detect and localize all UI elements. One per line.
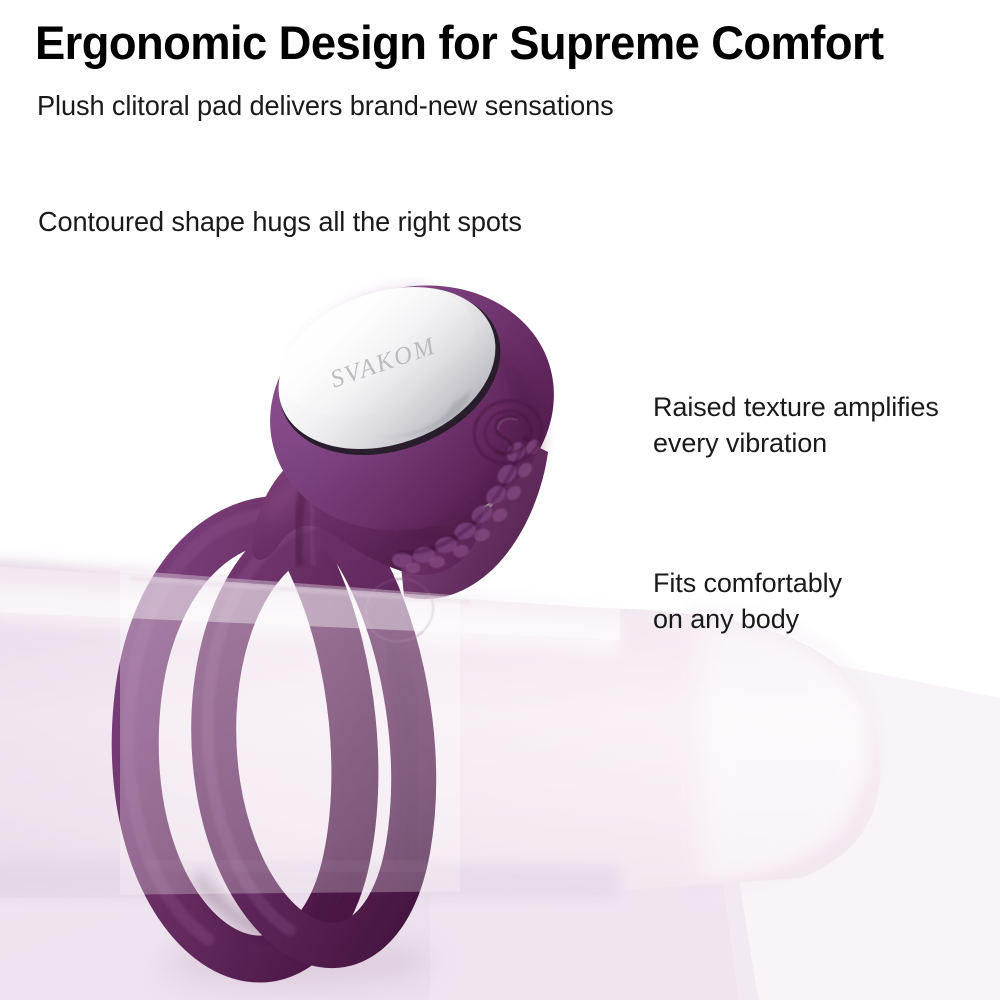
inner-ring xyxy=(208,524,414,946)
background-ground-plane xyxy=(0,560,1000,1000)
callout-fit-line-1: Fits comfortably xyxy=(653,566,842,602)
feature-callout-fits-comfortably: Fits comfortably on any body xyxy=(653,566,842,638)
product-neck xyxy=(252,438,483,575)
subtitle: Plush clitoral pad delivers brand-new se… xyxy=(37,90,614,122)
product-head xyxy=(238,249,586,566)
feature-callout-raised-texture: Raised texture amplifies every vibration xyxy=(653,390,939,462)
product-illustration: SVAKOM xyxy=(0,0,1000,1000)
callout-texture-line-1: Raised texture amplifies xyxy=(653,390,939,426)
page-title: Ergonomic Design for Supreme Comfort xyxy=(35,18,904,68)
power-button-icon xyxy=(357,392,549,650)
callout-fit-line-2: on any body xyxy=(653,602,842,638)
product-body: SVAKOM xyxy=(0,249,620,988)
outer-ring xyxy=(128,515,355,959)
raised-texture-nubs xyxy=(392,436,548,599)
product-infographic: SVAKOM Ergonomic Design for Supreme Comf… xyxy=(0,0,1000,1000)
callout-texture-line-2: every vibration xyxy=(653,426,939,462)
prop-crossfade-overlay xyxy=(0,540,620,920)
feature-label-contoured-shape: Contoured shape hugs all the right spots xyxy=(38,206,522,238)
brand-cap: SVAKOM xyxy=(256,258,524,484)
brand-logo-text: SVAKOM xyxy=(327,332,440,393)
